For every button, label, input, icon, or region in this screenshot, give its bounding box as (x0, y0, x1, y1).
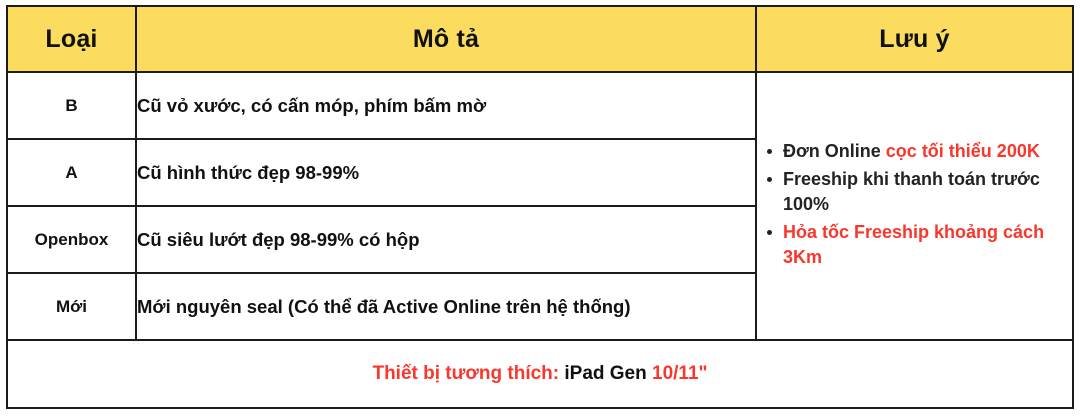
table-body: B Cũ vỏ xước, có cấn móp, phím bấm mờ Đơ… (7, 72, 1073, 408)
note-0-red: cọc tối thiểu 200K (886, 141, 1040, 161)
compatible-device: iPad Gen (559, 363, 652, 384)
compatible-label: Thiết bị tương thích: (372, 363, 559, 384)
header-description: Mô tả (136, 6, 756, 72)
cell-description-moi: Mới nguyên seal (Có thể đã Active Online… (136, 273, 756, 340)
note-list: Đơn Online cọc tối thiểu 200K Freeship k… (757, 139, 1072, 271)
note-0-plain: Đơn Online (783, 141, 886, 161)
cell-type-moi: Mới (7, 273, 136, 340)
note-cell: Đơn Online cọc tối thiểu 200K Freeship k… (756, 72, 1073, 340)
cell-description-openbox: Cũ siêu lướt đẹp 98-99% có hộp (136, 206, 756, 273)
note-2-red: Hỏa tốc Freeship khoảng cách 3Km (783, 222, 1044, 268)
cell-type-openbox: Openbox (7, 206, 136, 273)
cell-description-a: Cũ hình thức đẹp 98-99% (136, 139, 756, 206)
compatible-generation: 10/11" (652, 363, 708, 384)
footer-row: Thiết bị tương thích: iPad Gen 10/11" (7, 340, 1073, 408)
cell-description-b: Cũ vỏ xước, có cấn móp, phím bấm mờ (136, 72, 756, 139)
product-condition-table: Loại Mô tả Lưu ý B Cũ vỏ xước, có cấn mó… (6, 5, 1074, 409)
header-type: Loại (7, 6, 136, 72)
list-item: Freeship khi thanh toán trước 100% (783, 167, 1072, 218)
spec-table-page: Loại Mô tả Lưu ý B Cũ vỏ xước, có cấn mó… (0, 0, 1080, 420)
cell-type-a: A (7, 139, 136, 206)
cell-type-b: B (7, 72, 136, 139)
table-row: B Cũ vỏ xước, có cấn móp, phím bấm mờ Đơ… (7, 72, 1073, 139)
list-item: Đơn Online cọc tối thiểu 200K (783, 139, 1072, 165)
list-item: Hỏa tốc Freeship khoảng cách 3Km (783, 220, 1072, 271)
table-header: Loại Mô tả Lưu ý (7, 6, 1073, 72)
compatible-device-note: Thiết bị tương thích: iPad Gen 10/11" (7, 340, 1073, 408)
note-1-plain: Freeship khi thanh toán trước 100% (783, 169, 1040, 215)
header-note: Lưu ý (756, 6, 1073, 72)
header-row: Loại Mô tả Lưu ý (7, 6, 1073, 72)
